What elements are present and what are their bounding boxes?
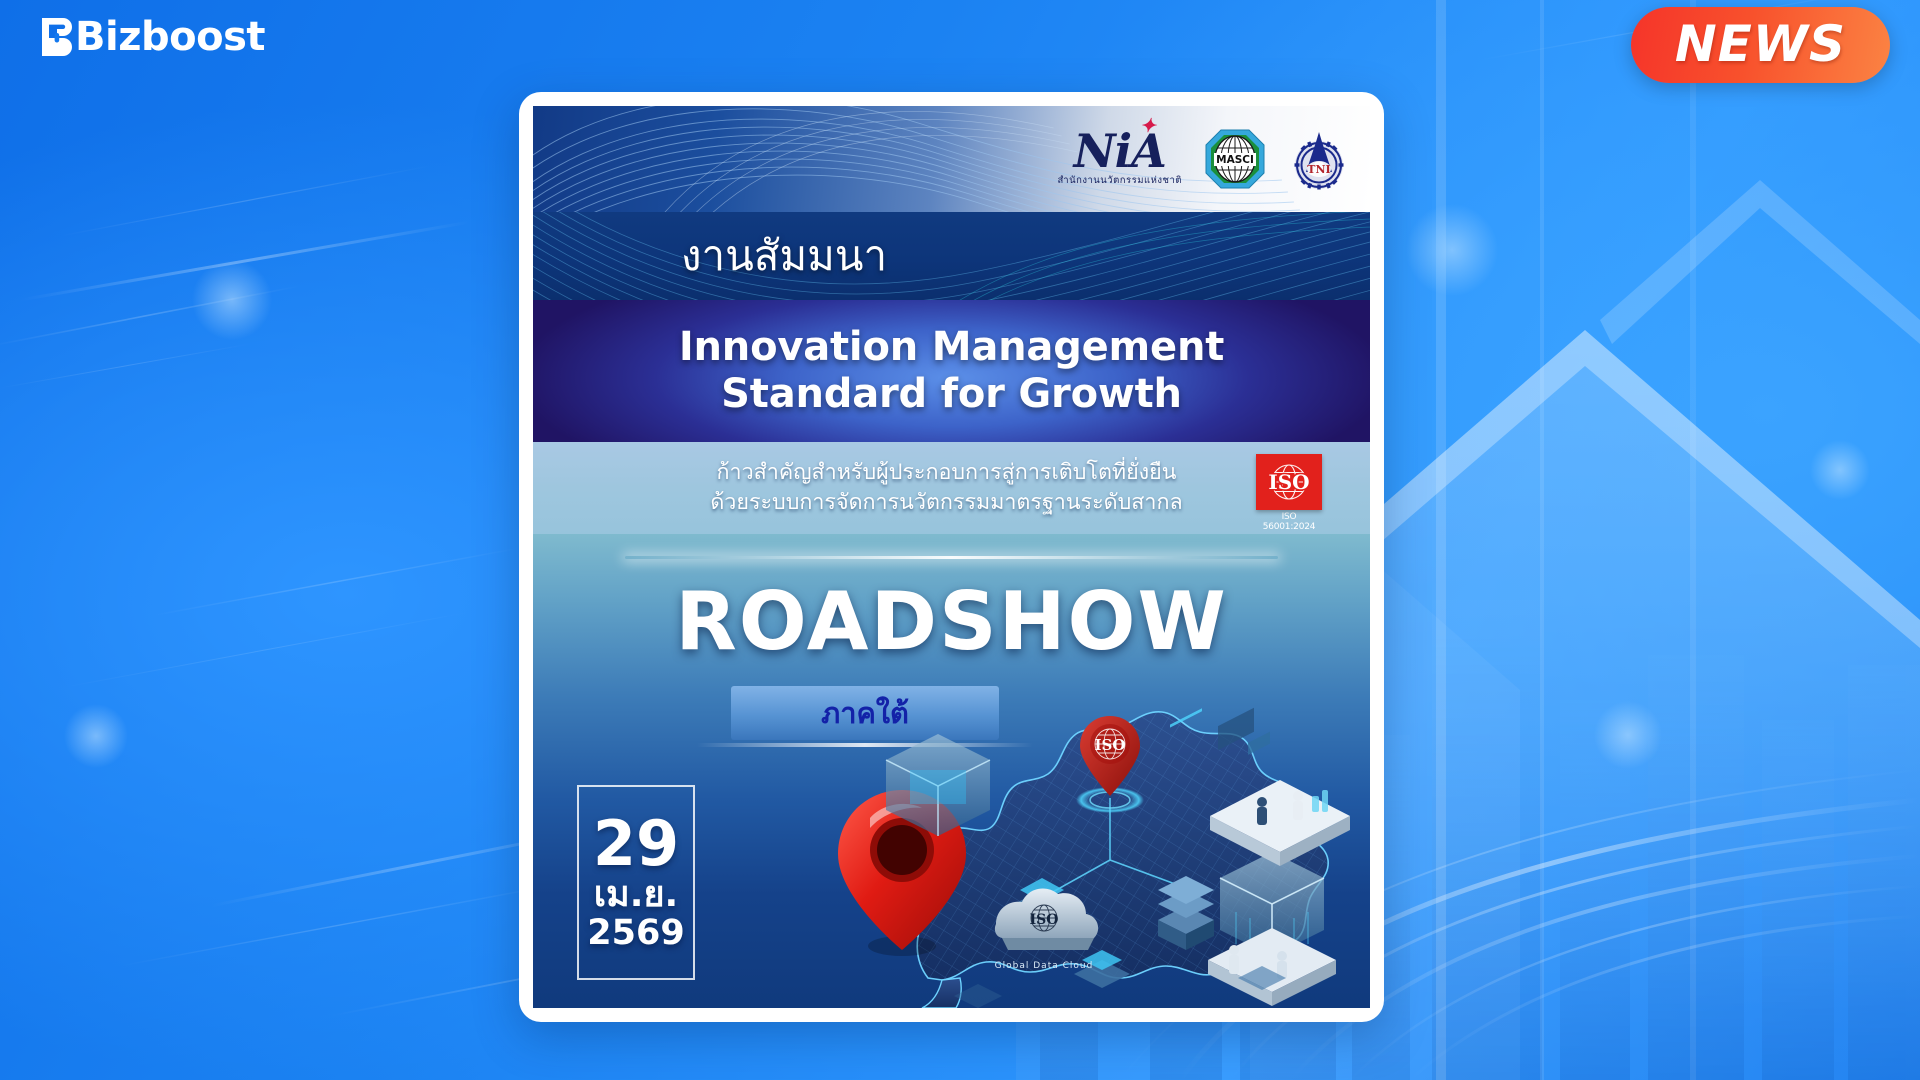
subtitle-line-1: ก้าวสำคัญสำหรับผู้ประกอบการสู่การเติบโตท… — [710, 458, 1182, 488]
title-line-1: Innovation Management — [679, 324, 1224, 371]
news-badge-label: NEWS — [1675, 19, 1846, 69]
partner-logos: NiA ✦ สำนักงานนวัตกรรมแห่งชาติ — [1057, 128, 1350, 190]
iso-globe-icon: ISO — [1256, 454, 1322, 510]
masci-logo: MASCI — [1204, 128, 1266, 190]
bizboost-b-logo-icon — [36, 14, 80, 60]
event-date-box: 29 เม.ย. 2569 — [577, 785, 695, 980]
brand-wordmark: Bizboost — [75, 17, 265, 57]
seminar-band: งานสัมมนา — [533, 212, 1370, 300]
subtitle-band: ก้าวสำคัญสำหรับผู้ประกอบการสู่การเติบโตท… — [533, 442, 1370, 534]
event-date-day: 29 — [593, 814, 679, 874]
iso-badge: ISO ISO 56001:2024 — [1256, 454, 1322, 532]
event-date-year: 2569 — [587, 915, 684, 952]
roadshow-illustration: ISO — [810, 678, 1370, 1008]
iso-badge-mark: ISO — [1256, 454, 1322, 510]
poster-content: NiA ✦ สำนักงานนวัตกรรมแห่งชาติ — [533, 106, 1370, 1008]
tni-logo: TNI — [1288, 128, 1350, 190]
illustration-graphics: ISO — [810, 678, 1370, 1008]
event-date-month: เม.ย. — [594, 875, 678, 915]
nia-logo: NiA ✦ สำนักงานนวัตกรรมแห่งชาติ — [1057, 130, 1182, 188]
svg-text:ISO: ISO — [1095, 736, 1126, 754]
nia-star-icon: ✦ — [1140, 117, 1155, 136]
subtitle-line-2: ด้วยระบบการจัดการนวัตกรรมมาตรฐานระดับสาก… — [710, 488, 1182, 518]
poster-header: NiA ✦ สำนักงานนวัตกรรมแห่งชาติ — [533, 106, 1370, 212]
svg-text:ISO: ISO — [1030, 912, 1059, 928]
seminar-title: งานสัมมนา — [533, 212, 1370, 300]
title-band: Innovation Management Standard for Growt… — [533, 300, 1370, 442]
glow-divider — [625, 556, 1278, 559]
poster-card[interactable]: NiA ✦ สำนักงานนวัตกรรมแห่งชาติ — [519, 92, 1384, 1022]
cloud-label: Global Data Cloud — [995, 961, 1094, 971]
roadshow-title: ROADSHOW — [533, 582, 1370, 662]
title-line-2: Standard for Growth — [721, 371, 1182, 418]
nia-mark: NiA ✦ — [1074, 130, 1166, 172]
news-badge[interactable]: NEWS — [1631, 7, 1890, 83]
brand-logo[interactable]: Bizboost — [36, 14, 265, 60]
roadshow-band: ROADSHOW ภาคใต้ — [533, 534, 1370, 1008]
iso-badge-caption: ISO 56001:2024 — [1256, 512, 1322, 532]
subtitle-text: ก้าวสำคัญสำหรับผู้ประกอบการสู่การเติบโตท… — [710, 458, 1182, 517]
svg-text:MASCI: MASCI — [1216, 154, 1254, 166]
svg-text:TNI: TNI — [1307, 163, 1330, 176]
svg-text:ISO: ISO — [1268, 470, 1309, 494]
